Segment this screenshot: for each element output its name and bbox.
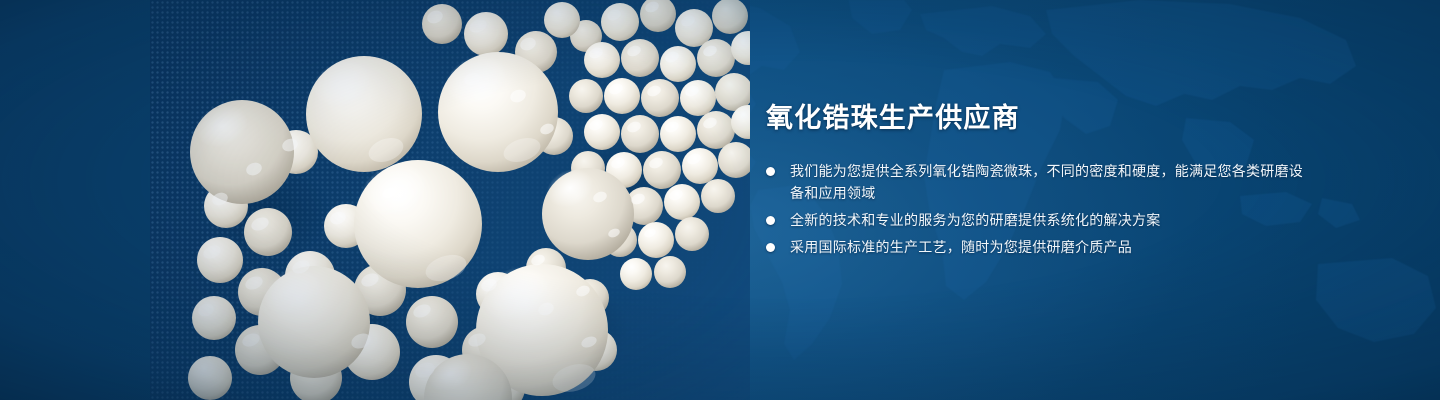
hero-banner: 氧化锆珠生产供应商 我们能为您提供全系列氧化锆陶瓷微珠，不同的密度和硬度，能满足… (0, 0, 1440, 400)
banner-copy: 氧化锆珠生产供应商 我们能为您提供全系列氧化锆陶瓷微珠，不同的密度和硬度，能满足… (766, 104, 1306, 258)
feature-list: 我们能为您提供全系列氧化锆陶瓷微珠，不同的密度和硬度，能满足您各类研磨设备和应用… (766, 160, 1306, 258)
bullet-dot-icon (766, 167, 775, 176)
zirconia-ceramic-beads-photo (150, 0, 750, 400)
list-item: 我们能为您提供全系列氧化锆陶瓷微珠，不同的密度和硬度，能满足您各类研磨设备和应用… (766, 160, 1306, 204)
list-item-label: 全新的技术和专业的服务为您的研磨提供系统化的解决方案 (790, 209, 1306, 231)
list-item-label: 我们能为您提供全系列氧化锆陶瓷微珠，不同的密度和硬度，能满足您各类研磨设备和应用… (790, 160, 1306, 204)
bullet-dot-icon (766, 243, 775, 252)
page-title: 氧化锆珠生产供应商 (766, 104, 1306, 134)
list-item: 采用国际标准的生产工艺，随时为您提供研磨介质产品 (766, 236, 1306, 258)
list-item-label: 采用国际标准的生产工艺，随时为您提供研磨介质产品 (790, 236, 1306, 258)
list-item: 全新的技术和专业的服务为您的研磨提供系统化的解决方案 (766, 209, 1306, 231)
bullet-dot-icon (766, 216, 775, 225)
